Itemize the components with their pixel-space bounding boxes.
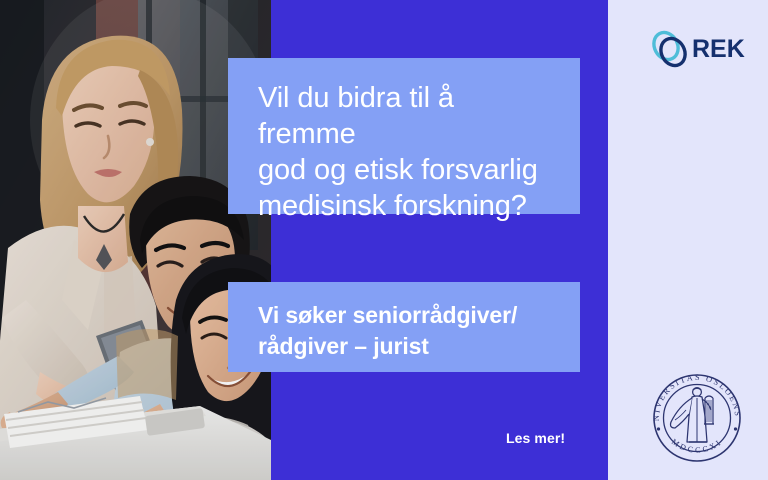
uio-seal: UNIVERSITAS OSLOENSIS MDCCCXI: [645, 366, 749, 470]
rek-interlocking-loops-icon: [650, 27, 690, 71]
read-more-link[interactable]: Les mer!: [506, 430, 565, 446]
rek-wordmark: REK: [692, 37, 745, 62]
job-advert-banner: Vil du bidra til å fremme god og etisk f…: [0, 0, 768, 480]
job-title-box: Vi søker seniorrådgiver/ rådgiver – juri…: [228, 282, 580, 372]
headline-text: Vil du bidra til å fremme god og etisk f…: [258, 80, 554, 224]
rek-logo[interactable]: REK: [650, 26, 742, 72]
job-title-text: Vi søker seniorrådgiver/ rådgiver – juri…: [258, 300, 554, 362]
headline-box: Vil du bidra til å fremme god og etisk f…: [228, 58, 580, 214]
